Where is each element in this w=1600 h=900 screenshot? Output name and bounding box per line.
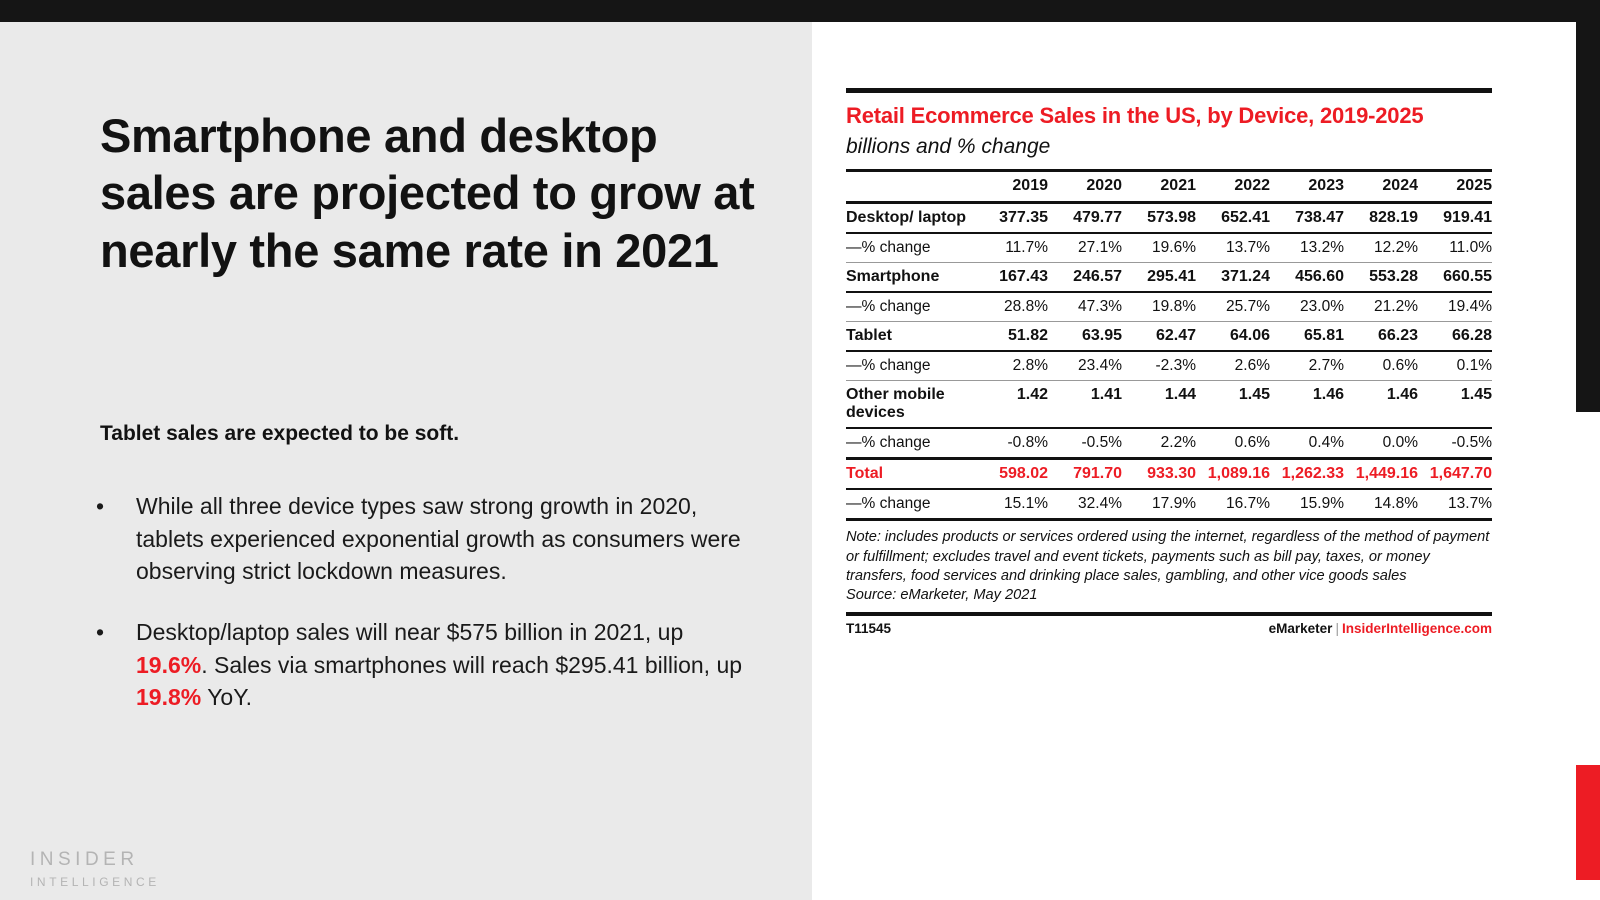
table-cell: 598.02 <box>974 459 1048 490</box>
table-cell: 479.77 <box>1048 203 1122 234</box>
table-cell: 933.30 <box>1122 459 1196 490</box>
table-cell: 1.46 <box>1270 381 1344 429</box>
table-row: Desktop/ laptop377.35479.77573.98652.417… <box>846 203 1492 234</box>
bullet-marker: • <box>96 616 136 714</box>
table-cell: 1.45 <box>1418 381 1492 429</box>
table-cell: 1,262.33 <box>1270 459 1344 490</box>
bullet-text-run: . Sales via smartphones will reach $295.… <box>201 652 742 678</box>
table-cell: 13.7% <box>1196 233 1270 263</box>
row-label: Desktop/ laptop <box>846 203 974 234</box>
table-cell: 13.7% <box>1418 489 1492 520</box>
subheading: Tablet sales are expected to be soft. <box>100 422 760 446</box>
column-header-year: 2020 <box>1048 171 1122 203</box>
table-cell: 63.95 <box>1048 322 1122 352</box>
table-cell: 66.23 <box>1344 322 1418 352</box>
column-header-year: 2022 <box>1196 171 1270 203</box>
table-cell: 1.41 <box>1048 381 1122 429</box>
table-cell: -0.5% <box>1048 428 1122 459</box>
table-cell: 16.7% <box>1196 489 1270 520</box>
table-cell: 167.43 <box>974 263 1048 293</box>
table-cell: 828.19 <box>1344 203 1418 234</box>
row-label: Total <box>846 459 974 490</box>
table-head: 2019202020212022202320242025 <box>846 171 1492 203</box>
table-cell: 2.8% <box>974 351 1048 381</box>
table-cell: 1.46 <box>1344 381 1418 429</box>
row-label: —% change <box>846 428 974 459</box>
table-cell: 371.24 <box>1196 263 1270 293</box>
table-cell: 652.41 <box>1196 203 1270 234</box>
logo-line-insider: INSIDER <box>30 846 160 874</box>
table-cell: 12.2% <box>1344 233 1418 263</box>
table-cell: 65.81 <box>1270 322 1344 352</box>
bullet-item: •Desktop/laptop sales will near $575 bil… <box>96 616 746 714</box>
logo-line-intelligence: INTELLIGENCE <box>30 874 160 891</box>
table-cell: 14.8% <box>1344 489 1418 520</box>
table-row: Smartphone167.43246.57295.41371.24456.60… <box>846 263 1492 293</box>
table-cell: 47.3% <box>1048 292 1122 322</box>
bullet-text-run: While all three device types saw strong … <box>136 493 741 584</box>
highlighted-stat: 19.6% <box>136 652 201 678</box>
table-cell: 0.0% <box>1344 428 1418 459</box>
table-row: Other mobile devices1.421.411.441.451.46… <box>846 381 1492 429</box>
table-cell: 1.45 <box>1196 381 1270 429</box>
table-cell: 19.6% <box>1122 233 1196 263</box>
table-row: —% change15.1%32.4%17.9%16.7%15.9%14.8%1… <box>846 489 1492 520</box>
table-cell: 0.1% <box>1418 351 1492 381</box>
bullet-list: •While all three device types saw strong… <box>96 490 746 742</box>
table-cell: 21.2% <box>1344 292 1418 322</box>
table-cell: 23.4% <box>1048 351 1122 381</box>
chart-title: Retail Ecommerce Sales in the US, by Dev… <box>846 103 1492 129</box>
table-cell: 0.4% <box>1270 428 1344 459</box>
row-label: —% change <box>846 489 974 520</box>
column-header-year: 2019 <box>974 171 1048 203</box>
table-row: —% change2.8%23.4%-2.3%2.6%2.7%0.6%0.1% <box>846 351 1492 381</box>
table-cell: 28.8% <box>974 292 1048 322</box>
table-cell: 573.98 <box>1122 203 1196 234</box>
table-cell: 64.06 <box>1196 322 1270 352</box>
table-cell: 1,449.16 <box>1344 459 1418 490</box>
bullet-item: •While all three device types saw strong… <box>96 490 746 588</box>
table-cell: -2.3% <box>1122 351 1196 381</box>
table-cell: 19.4% <box>1418 292 1492 322</box>
table-cell: 1,089.16 <box>1196 459 1270 490</box>
bullet-text: While all three device types saw strong … <box>136 490 746 588</box>
page-title: Smartphone and desktop sales are project… <box>100 107 760 279</box>
highlighted-stat: 19.8% <box>136 684 201 710</box>
table-cell: 246.57 <box>1048 263 1122 293</box>
table-cell: 23.0% <box>1270 292 1344 322</box>
table-body: Desktop/ laptop377.35479.77573.98652.417… <box>846 203 1492 520</box>
row-label: Other mobile devices <box>846 381 974 429</box>
table-cell: 13.2% <box>1270 233 1344 263</box>
table-cell: 66.28 <box>1418 322 1492 352</box>
chart-source: Source: eMarketer, May 2021 <box>846 587 1492 603</box>
chart-note: Note: includes products or services orde… <box>846 528 1492 586</box>
row-label: Tablet <box>846 322 974 352</box>
column-header-year: 2025 <box>1418 171 1492 203</box>
table-cell: 2.7% <box>1270 351 1344 381</box>
table-cell: 1.42 <box>974 381 1048 429</box>
table-cell: 15.9% <box>1270 489 1344 520</box>
table-cell: 17.9% <box>1122 489 1196 520</box>
card-bottom-rule <box>846 612 1492 616</box>
chart-card: Retail Ecommerce Sales in the US, by Dev… <box>846 88 1492 636</box>
table-cell: 456.60 <box>1270 263 1344 293</box>
table-header-row: 2019202020212022202320242025 <box>846 171 1492 203</box>
table-cell: 2.2% <box>1122 428 1196 459</box>
table-cell: 1.44 <box>1122 381 1196 429</box>
row-label: —% change <box>846 292 974 322</box>
table-cell: 0.6% <box>1344 351 1418 381</box>
row-label-header <box>846 171 974 203</box>
row-label: —% change <box>846 233 974 263</box>
table-row: Tablet51.8263.9562.4764.0665.8166.2366.2… <box>846 322 1492 352</box>
table-row: Total598.02791.70933.301,089.161,262.331… <box>846 459 1492 490</box>
slide-root: Smartphone and desktop sales are project… <box>0 0 1600 900</box>
right-black-accent-bar <box>1576 22 1600 412</box>
table-cell: 11.0% <box>1418 233 1492 263</box>
insider-intelligence-logo: INSIDER INTELLIGENCE <box>30 846 160 891</box>
card-footer: T11545 eMarketer|InsiderIntelligence.com <box>846 621 1492 636</box>
table-id: T11545 <box>846 621 891 636</box>
table-cell: 919.41 <box>1418 203 1492 234</box>
table-cell: 738.47 <box>1270 203 1344 234</box>
bullet-text: Desktop/laptop sales will near $575 bill… <box>136 616 746 714</box>
table-cell: 791.70 <box>1048 459 1122 490</box>
bullet-text-run: YoY. <box>201 684 252 710</box>
table-cell: 51.82 <box>974 322 1048 352</box>
bullet-text-run: Desktop/laptop sales will near $575 bill… <box>136 619 683 645</box>
column-header-year: 2021 <box>1122 171 1196 203</box>
row-label: —% change <box>846 351 974 381</box>
row-label: Smartphone <box>846 263 974 293</box>
card-top-rule <box>846 88 1492 93</box>
table-cell: 15.1% <box>974 489 1048 520</box>
chart-subtitle: billions and % change <box>846 135 1492 159</box>
table-cell: 19.8% <box>1122 292 1196 322</box>
table-cell: 11.7% <box>974 233 1048 263</box>
bullet-marker: • <box>96 490 136 588</box>
table-cell: 27.1% <box>1048 233 1122 263</box>
table-cell: 377.35 <box>974 203 1048 234</box>
table-row: —% change11.7%27.1%19.6%13.7%13.2%12.2%1… <box>846 233 1492 263</box>
table-row: —% change-0.8%-0.5%2.2%0.6%0.4%0.0%-0.5% <box>846 428 1492 459</box>
data-table: 2019202020212022202320242025 Desktop/ la… <box>846 169 1492 521</box>
table-cell: -0.8% <box>974 428 1048 459</box>
table-cell: 2.6% <box>1196 351 1270 381</box>
column-header-year: 2024 <box>1344 171 1418 203</box>
table-cell: 0.6% <box>1196 428 1270 459</box>
table-cell: 25.7% <box>1196 292 1270 322</box>
left-content-panel: Smartphone and desktop sales are project… <box>0 22 812 900</box>
table-cell: 295.41 <box>1122 263 1196 293</box>
table-cell: 553.28 <box>1344 263 1418 293</box>
column-header-year: 2023 <box>1270 171 1344 203</box>
table-cell: 1,647.70 <box>1418 459 1492 490</box>
brand-separator: | <box>1332 621 1342 636</box>
right-red-accent-bar <box>1576 765 1600 880</box>
table-cell: 62.47 <box>1122 322 1196 352</box>
top-black-bar <box>0 0 1600 22</box>
brand-credit: eMarketer|InsiderIntelligence.com <box>1269 621 1492 636</box>
table-cell: -0.5% <box>1418 428 1492 459</box>
table-row: —% change28.8%47.3%19.8%25.7%23.0%21.2%1… <box>846 292 1492 322</box>
brand-emarketer: eMarketer <box>1269 621 1333 636</box>
table-cell: 660.55 <box>1418 263 1492 293</box>
brand-insiderintelligence: InsiderIntelligence.com <box>1342 621 1492 636</box>
table-cell: 32.4% <box>1048 489 1122 520</box>
